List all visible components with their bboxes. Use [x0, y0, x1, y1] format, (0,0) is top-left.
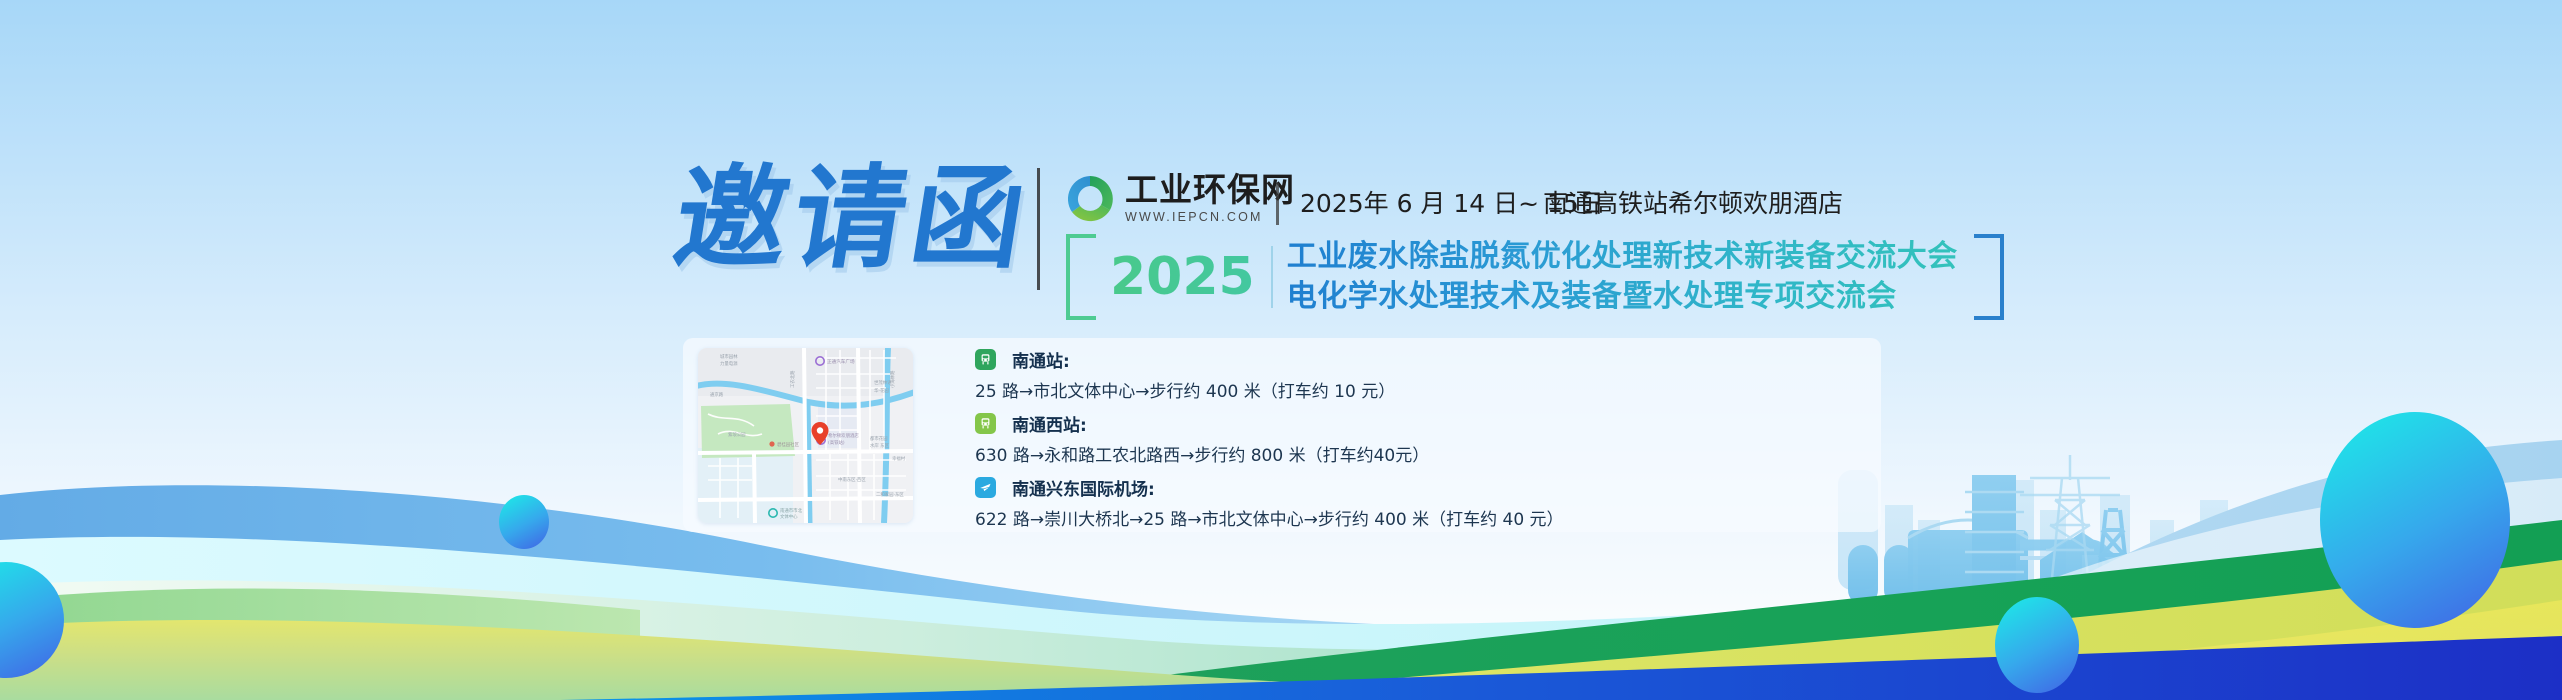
- wave-teal: [0, 568, 2562, 700]
- svg-text:紫琅公园: 紫琅公园: [728, 431, 746, 438]
- transit-station-name: 南通站:: [1012, 347, 1070, 372]
- transit-route: 622 路→崇川大桥北→25 路→市北文体中心→步行约 400 米（打车约 40…: [975, 505, 1855, 530]
- conference-title-line2: 电化学水处理技术及装备暨水处理专项交流会: [1287, 277, 1958, 317]
- transit-directions-list: 南通站: 25 路→市北文体中心→步行约 400 米（打车约 10 元） 南通西…: [975, 348, 1855, 540]
- transit-route: 25 路→市北文体中心→步行约 400 米（打车约 10 元）: [975, 377, 1855, 402]
- svg-text:通京路: 通京路: [710, 391, 724, 398]
- svg-text:正通汽车广场: 正通汽车广场: [827, 358, 855, 365]
- svg-text:都市花园: 都市花园: [870, 435, 888, 442]
- invitation-banner: 邀请函 工业环保网: [0, 0, 2562, 700]
- svg-text:希尔顿欢朋酒店: 希尔顿欢朋酒店: [828, 432, 859, 439]
- svg-text:工农北路: 工农北路: [789, 370, 796, 388]
- organizer-url: WWW.IEPCN.COM: [1125, 210, 1295, 224]
- page-title: 邀请函: [667, 163, 1039, 275]
- organizer-name: 工业环保网: [1125, 172, 1295, 208]
- svg-text:南通市市北: 南通市市北: [780, 507, 803, 514]
- bracket-right-icon: [1974, 234, 2004, 320]
- transit-item: 南通站: 25 路→市北文体中心→步行约 400 米（打车约 10 元）: [975, 348, 1855, 402]
- green-hill-left: [0, 589, 640, 700]
- transit-item: 南通兴东国际机场: 622 路→崇川大桥北→25 路→市北文体中心→步行约 40…: [975, 476, 1855, 530]
- header-divider: [1037, 168, 1040, 290]
- svg-text:水岸 东区: 水岸 东区: [870, 442, 890, 449]
- industrial-silhouette: [1848, 475, 2242, 620]
- svg-text:文体中心: 文体中心: [780, 513, 798, 520]
- svg-text:华-花园: 华-花园: [874, 387, 889, 394]
- sphere-small-mid: [1995, 597, 2079, 693]
- bracket-left-icon: [1066, 234, 1096, 320]
- svg-text:力量电源: 力量电源: [720, 360, 738, 367]
- power-pylon: [2020, 455, 2120, 578]
- svg-text:(高铁站): (高铁站): [828, 439, 845, 446]
- meta-divider: [1276, 183, 1279, 225]
- ring-logo-icon: [1064, 173, 1116, 225]
- conference-title-block: 2025 工业废水除盐脱氮优化处理新技术新装备交流大会 电化学水处理技术及装备暨…: [1066, 236, 2004, 318]
- far-skyline: [1838, 470, 2272, 590]
- svg-text:幸福村: 幸福村: [892, 455, 906, 462]
- train-icon: [975, 349, 996, 370]
- transit-item: 南通西站: 630 路→永和路工农北路西→步行约 800 米（打车约40元）: [975, 412, 1855, 466]
- airplane-icon: [975, 477, 996, 498]
- conference-separator: [1271, 246, 1273, 308]
- conference-title-line1: 工业废水除盐脱氮优化处理新技术新装备交流大会: [1287, 237, 1958, 277]
- hill-blue: [2000, 440, 2562, 700]
- svg-text:碧桂园社区: 碧桂园社区: [777, 441, 800, 448]
- map-image: 城市园林力量电源 紫琅公园 小海林路 世茂林语 华-花园 都市花园水岸 东区 幸…: [698, 348, 913, 523]
- organizer-logo[interactable]: 工业环保网 WWW.IEPCN.COM: [1064, 172, 1295, 225]
- wave-deep-blue: [560, 636, 2562, 700]
- train-icon: [975, 413, 996, 434]
- svg-text:世茂林语: 世茂林语: [874, 379, 892, 386]
- venue-map[interactable]: 城市园林力量电源 紫琅公园 小海林路 世茂林语 华-花园 都市花园水岸 东区 幸…: [698, 348, 913, 523]
- sphere-small-left: [499, 495, 549, 549]
- event-venue: 南通高铁站希尔顿欢朋酒店: [1543, 183, 1843, 225]
- sphere-large-right: [2320, 412, 2510, 628]
- transit-route: 630 路→永和路工农北路西→步行约 800 米（打车约40元）: [975, 441, 1855, 466]
- wave-yellow: [0, 600, 2562, 700]
- svg-text:城市园林: 城市园林: [720, 353, 738, 360]
- svg-text:中南东区·西区: 中南东区·西区: [838, 476, 866, 483]
- banner-header: 邀请函 工业环保网: [0, 0, 2562, 340]
- transit-station-name: 南通兴东国际机场:: [1012, 475, 1155, 500]
- conference-year: 2025: [1110, 238, 1255, 316]
- green-band: [980, 520, 2562, 700]
- sphere-bottom-left: [0, 562, 64, 678]
- transit-station-name: 南通西站:: [1012, 411, 1087, 436]
- wave-cyan: [0, 537, 2562, 700]
- svg-text:二和家园·东区: 二和家园·东区: [876, 491, 904, 498]
